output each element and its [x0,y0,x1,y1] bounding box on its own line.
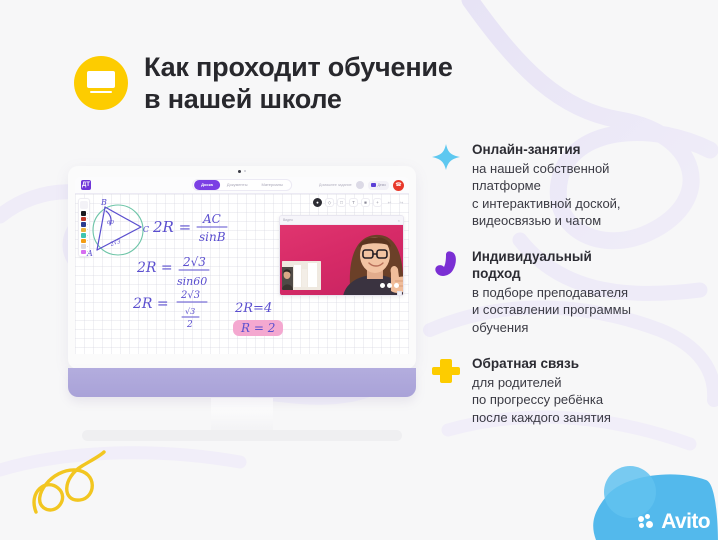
whiteboard-canvas[interactable]: ● ◇ □ T ■ + ↩ ↪ [75,194,409,354]
avatar-icon[interactable] [356,181,364,189]
avito-dots-icon [638,514,656,530]
feature-list: Онлайн-занятия на нашей собственной плат… [430,141,702,445]
feature-body: на нашей собственной платформе с интерак… [472,160,702,229]
webcam-dot-icon [238,170,246,173]
feature-title: Обратная связь [472,355,702,372]
svg-text:2: 2 [186,320,193,330]
svg-text:AC: AC [202,212,221,226]
close-icon[interactable]: × [398,218,400,223]
header: Как проходит обучение в нашей школе [74,52,453,116]
video-window-titlebar: Видео × [280,216,403,225]
app-logo-icon[interactable]: ДТ [81,180,91,190]
share-button-label: Демо [378,183,386,187]
star-bullet-icon [430,142,462,172]
app-topbar-right: Домашнее задание Демо ☎ [319,180,404,191]
monitor-neck [211,398,273,434]
svg-text:sin60: sin60 [177,275,207,288]
app-tabs: Доска Документы Материалы [192,179,292,191]
svg-text:sinB: sinB [199,230,226,244]
app-topbar: ДТ Доска Документы Материалы Домашнее за… [75,177,409,194]
svg-text:C: C [143,225,149,234]
feature-item-individual-approach: Индивидуальный подход в подборе преподав… [430,248,702,336]
video-pip-thumbnail[interactable] [282,261,321,290]
whiteboard-app: ДТ Доска Документы Материалы Домашнее за… [75,177,409,354]
svg-text:60: 60 [107,220,114,226]
svg-text:A: A [86,249,93,258]
avito-watermark: Avito [638,511,710,532]
header-badge [74,56,128,110]
tab-documents[interactable]: Документы [220,180,255,190]
monitor-base [82,430,402,441]
svg-text:2R =: 2R = [152,218,191,236]
comma-bullet-icon [430,249,462,279]
share-screen-icon [371,183,376,187]
svg-text:2√3: 2√3 [180,290,200,301]
feature-item-online-lessons: Онлайн-занятия на нашей собственной плат… [430,141,702,229]
page-title: Как проходит обучение в нашей школе [144,52,453,116]
plus-bullet-icon [430,356,462,386]
monitor-chin [68,368,416,397]
tab-board[interactable]: Доска [194,180,220,190]
svg-text:2R =: 2R = [136,260,173,276]
promo-banner: Как проходит обучение в нашей школе ДТ Д… [0,0,718,540]
end-call-icon[interactable]: ☎ [393,180,404,191]
svg-text:2R=4: 2R=4 [234,301,272,316]
feature-title: Индивидуальный подход [472,248,702,282]
svg-text:√3: √3 [185,307,195,316]
svg-text:2√3: 2√3 [182,255,206,269]
student-video-figure [282,261,321,290]
monitor-frame: ДТ Доска Документы Материалы Домашнее за… [68,166,416,369]
resize-handle-icon[interactable] [397,291,402,296]
feature-body: для родителей по прогрессу ребёнка после… [472,374,702,426]
video-call-window[interactable]: Видео × [279,215,404,296]
feature-body: в подборе преподавателя и составлении пр… [472,284,702,336]
monitor-mockup: ДТ Доска Документы Материалы Домашнее за… [68,166,416,397]
feature-item-feedback: Обратная связь для родителей по прогресс… [430,355,702,426]
tab-materials[interactable]: Материалы [254,180,289,190]
more-options-icon[interactable] [380,283,399,288]
feature-title: Онлайн-занятия [472,141,702,158]
monitor-icon [87,71,115,95]
svg-text:2√3: 2√3 [109,238,123,248]
share-button[interactable]: Демо [368,181,389,190]
svg-text:B: B [100,198,107,207]
avito-wordmark: Avito [661,511,710,532]
video-window-title: Видео [283,218,293,222]
video-stage [280,225,403,296]
svg-text:R = 2: R = 2 [240,321,275,335]
svg-text:2R =: 2R = [132,296,169,312]
session-label: Домашнее задание [319,183,352,187]
